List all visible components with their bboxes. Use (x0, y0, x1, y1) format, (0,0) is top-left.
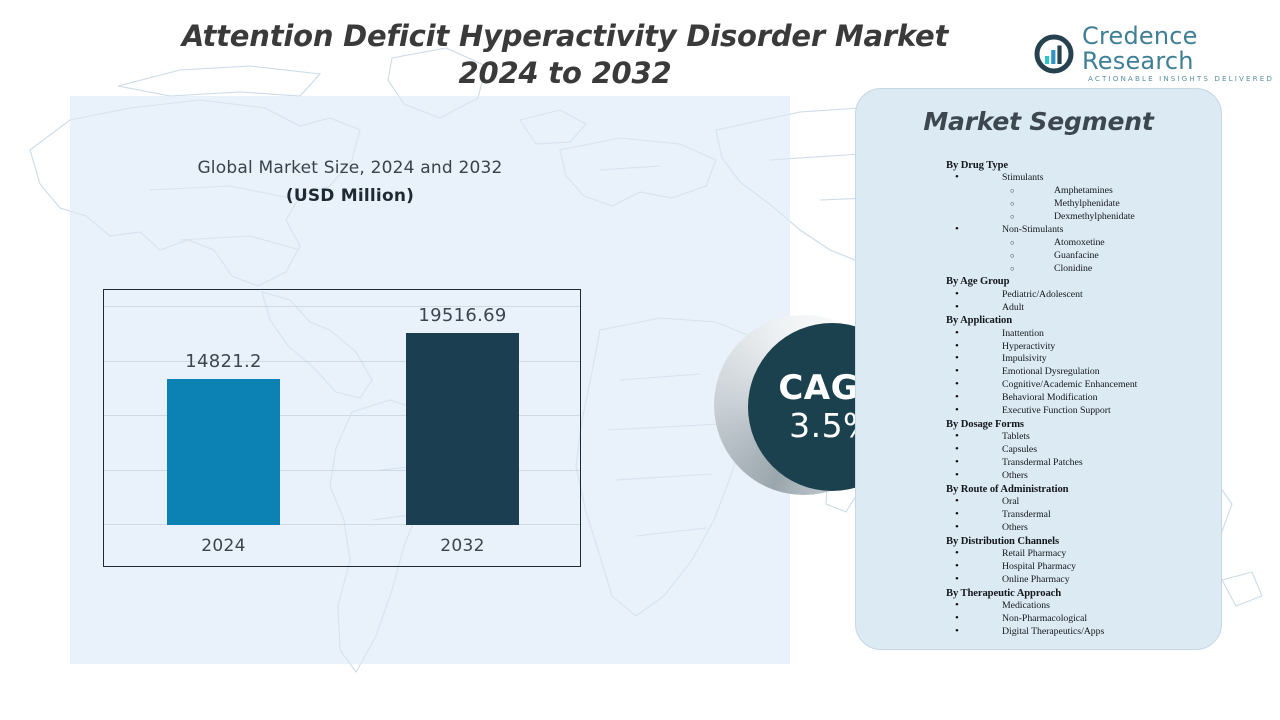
bar-2024: 14821.2 (167, 379, 280, 525)
title-line-1: Attention Deficit Hyperactivity Disorder… (170, 18, 960, 55)
segment-heading: By Dosage Forms (946, 418, 1209, 431)
segment-item: Non-Stimulants (946, 224, 1209, 237)
segment-heading: By Drug Type (946, 159, 1209, 172)
segment-item: Digital Therapeutics/Apps (946, 626, 1209, 639)
segment-item: Tablets (946, 431, 1209, 444)
segment-item: Others (946, 470, 1209, 483)
bar-value-label: 14821.2 (139, 351, 308, 372)
logo-tagline: ACTIONABLE INSIGHTS DELIVERED (1082, 74, 1280, 84)
segment-item: Non-Pharmacological (946, 613, 1209, 626)
segment-item: Retail Pharmacy (946, 548, 1209, 561)
chart-caption-line-1: Global Market Size, 2024 and 2032 (95, 158, 605, 178)
chart-caption: Global Market Size, 2024 and 2032 (USD M… (95, 158, 605, 206)
segment-heading: By Application (946, 314, 1209, 327)
segment-item: Dexmethylphenidate (946, 211, 1209, 224)
segment-item: Atomoxetine (946, 237, 1209, 250)
segment-item: Online Pharmacy (946, 574, 1209, 587)
title-line-2: 2024 to 2032 (170, 55, 960, 92)
page-title: Attention Deficit Hyperactivity Disorder… (170, 18, 960, 92)
segment-item: Emotional Dysregulation (946, 366, 1209, 379)
segment-heading: By Therapeutic Approach (946, 587, 1209, 600)
logo-text: Credence Research ACTIONABLE INSIGHTS DE… (1082, 24, 1280, 84)
segment-item: Inattention (946, 328, 1209, 341)
bar-rect (406, 333, 519, 525)
x-axis-label-2032: 2032 (406, 536, 519, 556)
market-segment-panel: Market Segment By Drug TypeStimulantsAmp… (855, 88, 1222, 650)
chart-plot-area: 14821.2202419516.692032 (104, 290, 580, 566)
market-segment-title: Market Segment (856, 107, 1221, 136)
segment-item: Hospital Pharmacy (946, 561, 1209, 574)
segment-heading: By Age Group (946, 275, 1209, 288)
segment-item: Amphetamines (946, 185, 1209, 198)
bar-chart: 14821.2202419516.692032 (103, 289, 581, 567)
segment-item: Stimulants (946, 172, 1209, 185)
segment-heading: By Route of Administration (946, 483, 1209, 496)
segment-item: Clonidine (946, 263, 1209, 276)
segment-item: Executive Function Support (946, 405, 1209, 418)
segment-item: Cognitive/Academic Enhancement (946, 379, 1209, 392)
logo-name: Credence Research (1082, 24, 1280, 74)
brand-logo[interactable]: Credence Research ACTIONABLE INSIGHTS DE… (1034, 24, 1280, 84)
segment-item: Hyperactivity (946, 341, 1209, 354)
segment-heading: By Distribution Channels (946, 535, 1209, 548)
segment-item: Others (946, 522, 1209, 535)
bar-chart-circle-icon (1034, 34, 1074, 74)
segment-item: Behavioral Modification (946, 392, 1209, 405)
infographic-canvas: Attention Deficit Hyperactivity Disorder… (0, 0, 1280, 720)
segment-item: Impulsivity (946, 353, 1209, 366)
segment-item: Transdermal (946, 509, 1209, 522)
bar-value-label: 19516.69 (378, 305, 547, 326)
segment-item: Oral (946, 496, 1209, 509)
segment-item: Pediatric/Adolescent (946, 289, 1209, 302)
bar-rect (167, 379, 280, 525)
segment-item: Methylphenidate (946, 198, 1209, 211)
chart-caption-line-2: (USD Million) (95, 186, 605, 206)
segment-item: Capsules (946, 444, 1209, 457)
market-segment-list: By Drug TypeStimulantsAmphetaminesMethyl… (946, 159, 1209, 639)
bar-2032: 19516.69 (406, 333, 519, 525)
segment-item: Transdermal Patches (946, 457, 1209, 470)
segment-item: Adult (946, 302, 1209, 315)
x-axis-label-2024: 2024 (167, 536, 280, 556)
segment-item: Medications (946, 600, 1209, 613)
segment-item: Guanfacine (946, 250, 1209, 263)
